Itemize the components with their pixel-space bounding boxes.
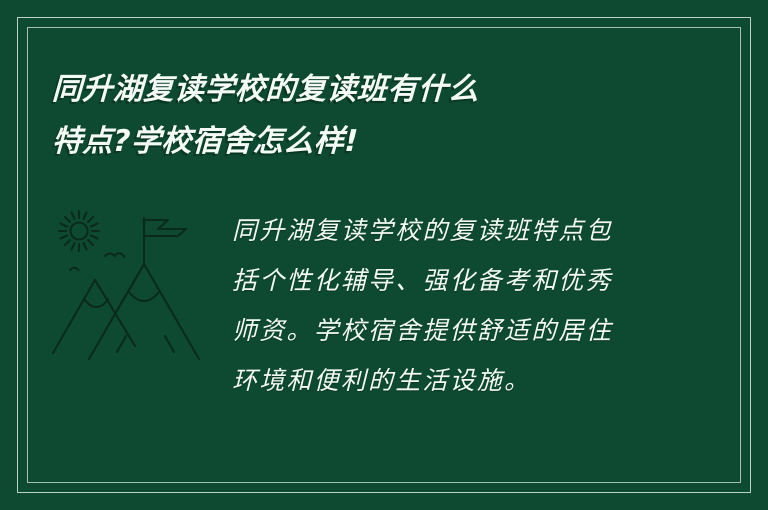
body-line-3: 师资。学校宿舍提供舒适的居住 [232,306,652,356]
bird-icon [70,268,79,270]
body-line-4: 环境和便利的生活设施。 [232,356,652,406]
headline-block: 同升湖复读学校的复读班有什么 特点?学校宿舍怎么样! [52,64,652,168]
sun-icon [59,211,99,251]
headline-line-2: 特点?学校宿舍怎么样! [51,116,653,168]
body-copy-block: 同升湖复读学校的复读班特点包 括个性化辅导、强化备考和优秀 师资。学校宿舍提供舒… [232,206,652,406]
body-line-2: 括个性化辅导、强化备考和优秀 [232,256,652,306]
mountain-scene-illustration [48,196,228,366]
body-line-1: 同升湖复读学校的复读班特点包 [232,206,652,256]
bird-icon [105,253,125,257]
poster-card: 同升湖复读学校的复读班有什么 特点?学校宿舍怎么样! [0,0,768,510]
headline-line-1: 同升湖复读学校的复读班有什么 [51,64,653,116]
large-mountain-icon [89,264,199,359]
flag-icon [144,218,186,266]
